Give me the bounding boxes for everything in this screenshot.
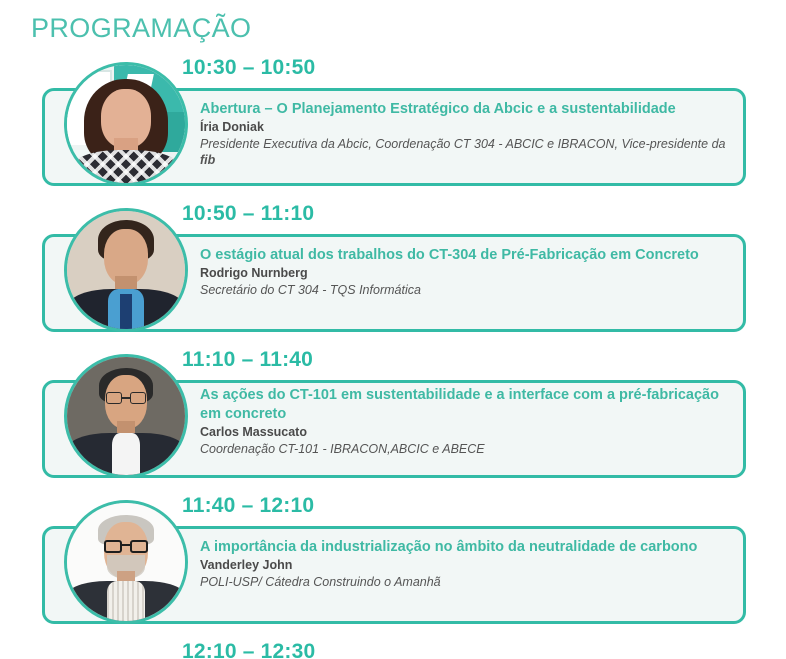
slot-role: Presidente Executiva da Abcic, Coordenaç… xyxy=(200,136,738,169)
schedule-slot[interactable]: 10:30 – 10:50 Abertura – O Planejamento … xyxy=(0,56,786,202)
avatar xyxy=(64,354,188,478)
slot-title: O estágio atual dos trabalhos do CT-304 … xyxy=(200,246,738,265)
avatar xyxy=(64,62,188,186)
slot-body: O estágio atual dos trabalhos do CT-304 … xyxy=(200,246,738,298)
schedule-list: 10:30 – 10:50 Abertura – O Planejamento … xyxy=(0,56,786,659)
schedule-slot-partial[interactable]: 12:10 – 12:30 xyxy=(0,640,786,659)
schedule-slot[interactable]: 11:10 – 11:40 As ações do CT-101 em sust… xyxy=(0,348,786,494)
slot-speaker: Carlos Massucato xyxy=(200,425,738,441)
schedule-slot[interactable]: 10:50 – 11:10 O estágio atual dos trabal… xyxy=(0,202,786,348)
slot-speaker: Vanderley John xyxy=(200,558,738,574)
slot-body: Abertura – O Planejamento Estratégico da… xyxy=(200,100,738,168)
slot-title: Abertura – O Planejamento Estratégico da… xyxy=(200,100,738,119)
photo-iria-doniak xyxy=(67,65,185,183)
page-title: PROGRAMAÇÃO xyxy=(31,13,251,44)
slot-speaker: Íria Doniak xyxy=(200,120,738,136)
slot-body: A importância da industrialização no âmb… xyxy=(200,538,738,590)
photo-carlos-massucato xyxy=(67,357,185,475)
schedule-slot[interactable]: 11:40 – 12:10 A importância da industria… xyxy=(0,494,786,640)
slot-speaker: Rodrigo Nurnberg xyxy=(200,266,738,282)
slot-role-emphasis: fib xyxy=(200,153,215,167)
programacao-page: PROGRAMAÇÃO 10:30 – 10:50 Abertura – O P… xyxy=(0,0,786,659)
slot-time: 10:30 – 10:50 xyxy=(182,56,315,80)
avatar xyxy=(64,500,188,624)
slot-time: 10:50 – 11:10 xyxy=(182,202,314,226)
avatar xyxy=(64,208,188,332)
slot-role: Secretário do CT 304 - TQS Informática xyxy=(200,282,738,298)
slot-time: 11:10 – 11:40 xyxy=(182,348,313,372)
photo-vanderley-john xyxy=(67,503,185,621)
slot-title: A importância da industrialização no âmb… xyxy=(200,538,738,557)
slot-role-text: Presidente Executiva da Abcic, Coordenaç… xyxy=(200,137,726,151)
photo-rodrigo-nurnberg xyxy=(67,211,185,329)
slot-time: 11:40 – 12:10 xyxy=(182,494,314,518)
slot-role: Coordenação CT-101 - IBRACON,ABCIC e ABE… xyxy=(200,441,738,457)
slot-role: POLI-USP/ Cátedra Construindo o Amanhã xyxy=(200,574,738,590)
slot-time: 12:10 – 12:30 xyxy=(182,640,315,659)
slot-title: As ações do CT-101 em sustentabilidade e… xyxy=(200,386,738,424)
slot-body: As ações do CT-101 em sustentabilidade e… xyxy=(200,386,738,457)
